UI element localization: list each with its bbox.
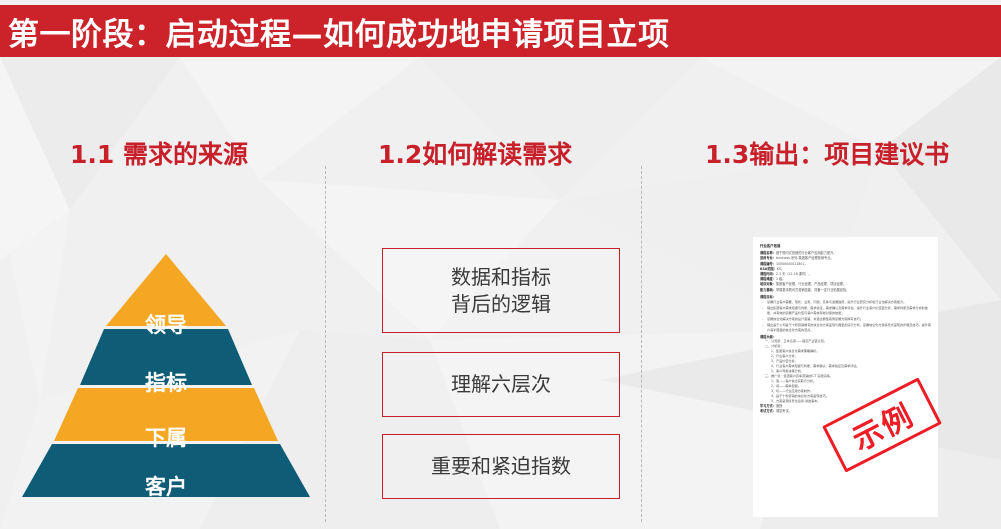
concept-box-2: 理解六层次 bbox=[382, 352, 620, 417]
document-fields: 课程名称：基于顾问式营销的行业客户应用能力提升。适用专业：business-系列… bbox=[760, 251, 931, 293]
title-banner: 第一阶段：启动过程—如何成功地申请项目立项 bbox=[0, 5, 1001, 57]
document-objective-item: 理出基于公司基于十秒营销推写的信息化方案呈现与典型的演示分析，掌握信息化方案情景… bbox=[760, 323, 931, 333]
document-objectives: 掌握行业客户需要、现状、业务、问题、竞争与发展趋势，提升行业研究分析和行业化解决… bbox=[760, 300, 931, 333]
document-objective-item: 理出集团客户需求挖掘与判断、需求验证、需求确认及需求评估，提升行业客户价值链分析… bbox=[760, 306, 931, 316]
document-objective-label: 课程目标： bbox=[760, 294, 931, 299]
page-title: 第一阶段：启动过程—如何成功地申请项目立项 bbox=[0, 9, 670, 54]
document-page: 行业客户拓展 课程名称：基于顾问式营销的行业客户应用能力提升。适用专业：busi… bbox=[753, 237, 938, 517]
column-heading-2: 1.2如何解读需求 bbox=[378, 135, 572, 171]
column-divider-2 bbox=[641, 166, 642, 522]
pyramid-diagram: 领导 指标 下属 客户 bbox=[18, 254, 314, 499]
concept-box-1-label: 数据和指标背后的逻辑 bbox=[451, 264, 551, 318]
column-divider-1 bbox=[325, 166, 326, 522]
document-field-row: 能力基础：掌握基本顾问式营销技能，具备一定行业拓展经验。 bbox=[760, 288, 931, 293]
pyramid-level-1-shape bbox=[106, 254, 226, 326]
concept-box-3-label: 重要和紧迫指数 bbox=[431, 453, 571, 480]
concept-box-1: 数据和指标背后的逻辑 bbox=[382, 248, 620, 333]
concept-box-3: 重要和紧迫指数 bbox=[382, 434, 620, 499]
pyramid-level-4-shape bbox=[22, 444, 310, 497]
document-preview: 行业客户拓展 课程名称：基于顾问式营销的行业客户应用能力提升。适用专业：busi… bbox=[753, 237, 938, 517]
document-objective-item: 掌握行业客户需要、现状、业务、问题、竞争与发展趋势，提升行业研究分析和行业化解决… bbox=[760, 300, 931, 305]
column-heading-3: 1.3输出：项目建议书 bbox=[705, 135, 949, 171]
column-heading-1: 1.1 需求的来源 bbox=[70, 135, 248, 171]
pyramid-level-2-shape bbox=[80, 329, 252, 385]
pyramid-level-3-shape bbox=[54, 388, 278, 441]
pyramid-shapes bbox=[18, 254, 314, 499]
slide-canvas: 第一阶段：启动过程—如何成功地申请项目立项 1.1 需求的来源 1.2如何解读需… bbox=[0, 0, 1001, 529]
concept-box-2-label: 理解六层次 bbox=[451, 371, 551, 398]
document-objective-item: 掌握信息化解决方案的设计思路，并通过典型案例掌握方案撰写技巧； bbox=[760, 317, 931, 322]
document-title: 行业客户拓展 bbox=[760, 243, 931, 248]
